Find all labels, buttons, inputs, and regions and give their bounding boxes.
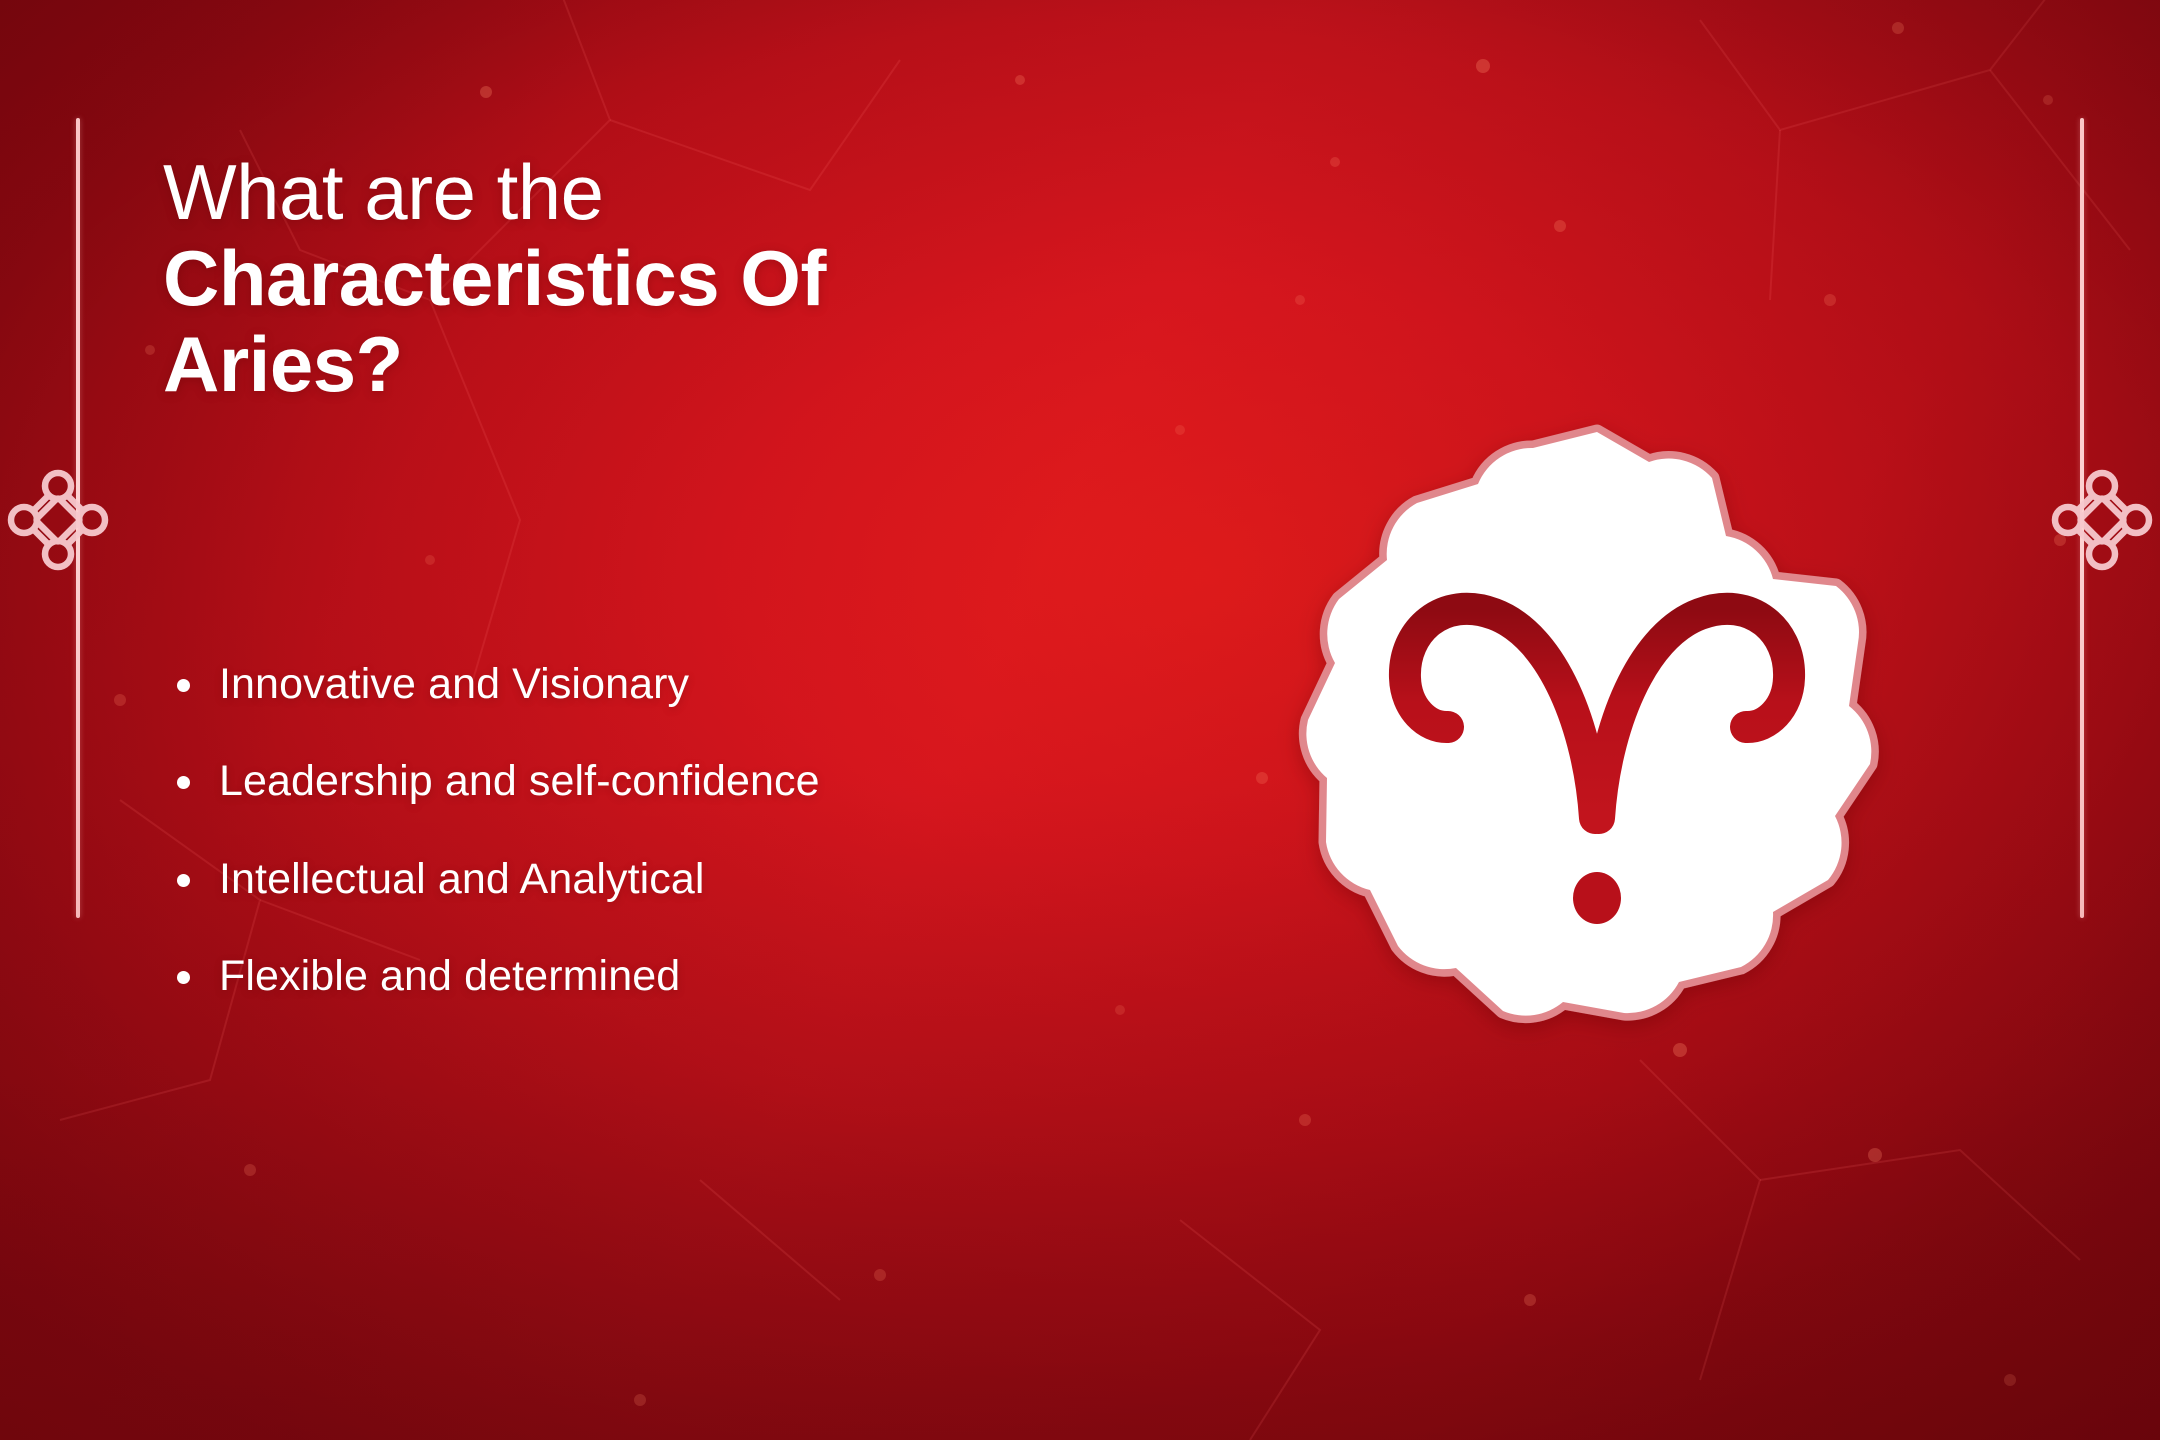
bullet-dot-icon (177, 679, 190, 692)
list-item-label: Leadership and self-confidence (219, 757, 820, 805)
left-celtic-knot-icon (2, 464, 114, 576)
slide-canvas: What are the Characteristics Of Aries? I… (0, 0, 2160, 1440)
characteristics-list: Innovative and Visionary Leadership and … (163, 655, 993, 1044)
right-celtic-knot-icon (2046, 464, 2158, 576)
list-item-label: Intellectual and Analytical (219, 855, 705, 903)
bullet-dot-icon (177, 971, 190, 984)
page-title: What are the Characteristics Of Aries? (163, 150, 1003, 407)
bullet-dot-icon (177, 874, 190, 887)
title-line-2: Characteristics Of (163, 236, 1003, 322)
list-item: Leadership and self-confidence (163, 752, 993, 811)
aries-glyph-stem-tip (1573, 872, 1621, 924)
list-item-label: Innovative and Visionary (219, 660, 689, 708)
title-line-1: What are the (163, 150, 1003, 236)
text-column: What are the Characteristics Of Aries? (163, 150, 1003, 407)
aries-badge (1257, 390, 1937, 1070)
list-item: Flexible and determined (163, 947, 993, 1006)
title-line-3: Aries? (163, 322, 1003, 408)
bullet-dot-icon (177, 776, 190, 789)
list-item: Intellectual and Analytical (163, 850, 993, 909)
list-item: Innovative and Visionary (163, 655, 993, 714)
list-item-label: Flexible and determined (219, 952, 680, 1000)
